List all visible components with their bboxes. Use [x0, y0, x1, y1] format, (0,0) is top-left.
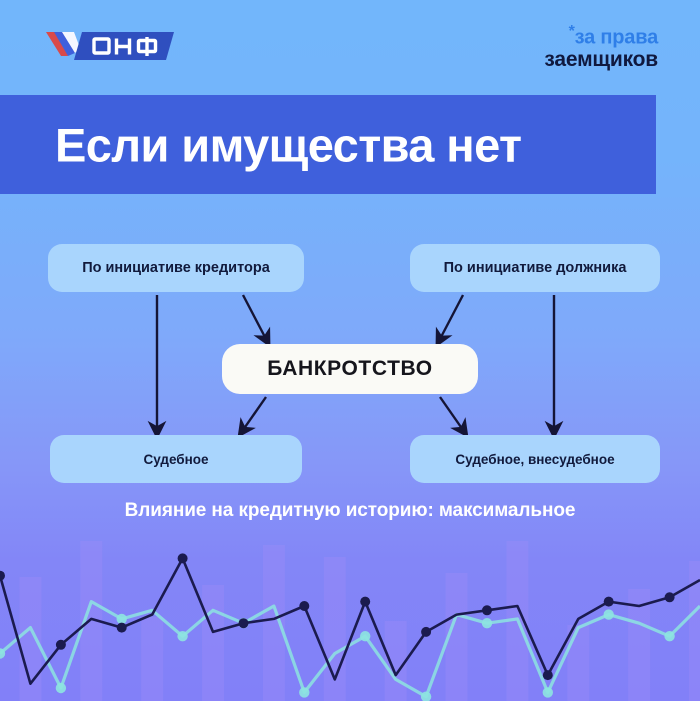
chart-bar: [141, 617, 163, 701]
chart-marker: [56, 683, 66, 693]
flow-node-judicial: Судебное: [50, 435, 302, 483]
arrow-bank-to-sudvne: [440, 397, 463, 430]
chart-marker: [299, 601, 309, 611]
chart-marker: [543, 670, 553, 680]
chart-marker: [421, 627, 431, 637]
chart-marker: [664, 631, 674, 641]
title-banner: Если имущества нет: [0, 95, 656, 194]
chart-marker: [117, 614, 127, 624]
header: *за права заемщиков: [0, 0, 700, 95]
credit-history-caption: Влияние на кредитную историю: максимальн…: [0, 500, 700, 522]
page-title: Если имущества нет: [55, 117, 521, 172]
arrow-bank-to-sud: [243, 397, 266, 430]
chart-bar: [202, 585, 224, 701]
chart-marker: [360, 597, 370, 607]
chart-bar: [263, 545, 285, 701]
chart-marker: [543, 687, 553, 697]
flow-chart: По инициативе кредитора По инициативе до…: [0, 194, 700, 504]
footer-chart: [0, 541, 700, 701]
chart-marker: [604, 609, 614, 619]
chart-bar: [567, 625, 589, 701]
chart-marker: [360, 631, 370, 641]
chart-marker: [177, 631, 187, 641]
flow-node-debtor: По инициативе должника: [410, 244, 660, 292]
chart-marker: [299, 687, 309, 697]
chart-marker: [178, 553, 188, 563]
tagline: *за права заемщиков: [544, 24, 658, 71]
flow-node-judicial-extrajudicial-label: Судебное, внесудебное: [455, 452, 614, 467]
chart-bar: [385, 621, 407, 701]
chart-marker: [0, 571, 5, 581]
chart-marker: [117, 623, 127, 633]
chart-marker: [665, 592, 675, 602]
chart-marker: [239, 618, 249, 628]
chart-marker: [604, 597, 614, 607]
arrow-debtor-to-bank: [440, 295, 463, 339]
flow-node-credit: По инициативе кредитора: [48, 244, 304, 292]
flow-node-debtor-label: По инициативе должника: [444, 260, 627, 276]
flow-node-bankruptcy-label: БАНКРОТСТВО: [267, 357, 432, 381]
tagline-line1-text: за права: [575, 27, 658, 49]
tagline-line1: *за права: [544, 24, 658, 49]
chart-marker: [482, 618, 492, 628]
chart-marker: [56, 640, 66, 650]
flow-node-credit-label: По инициативе кредитора: [82, 260, 270, 276]
chart-line-mint-line: [0, 602, 700, 697]
flow-node-judicial-label: Судебное: [143, 452, 208, 467]
chart-marker: [482, 605, 492, 615]
footer-chart-svg: [0, 541, 700, 701]
arrow-credit-to-bank: [243, 295, 266, 339]
flow-node-judicial-extrajudicial: Судебное, внесудебное: [410, 435, 660, 483]
flow-node-bankruptcy: БАНКРОТСТВО: [222, 344, 478, 394]
infographic-poster: *за права заемщиков Если имущества нет: [0, 0, 700, 701]
tagline-line2: заемщиков: [544, 49, 658, 71]
onf-logo: [44, 26, 174, 66]
